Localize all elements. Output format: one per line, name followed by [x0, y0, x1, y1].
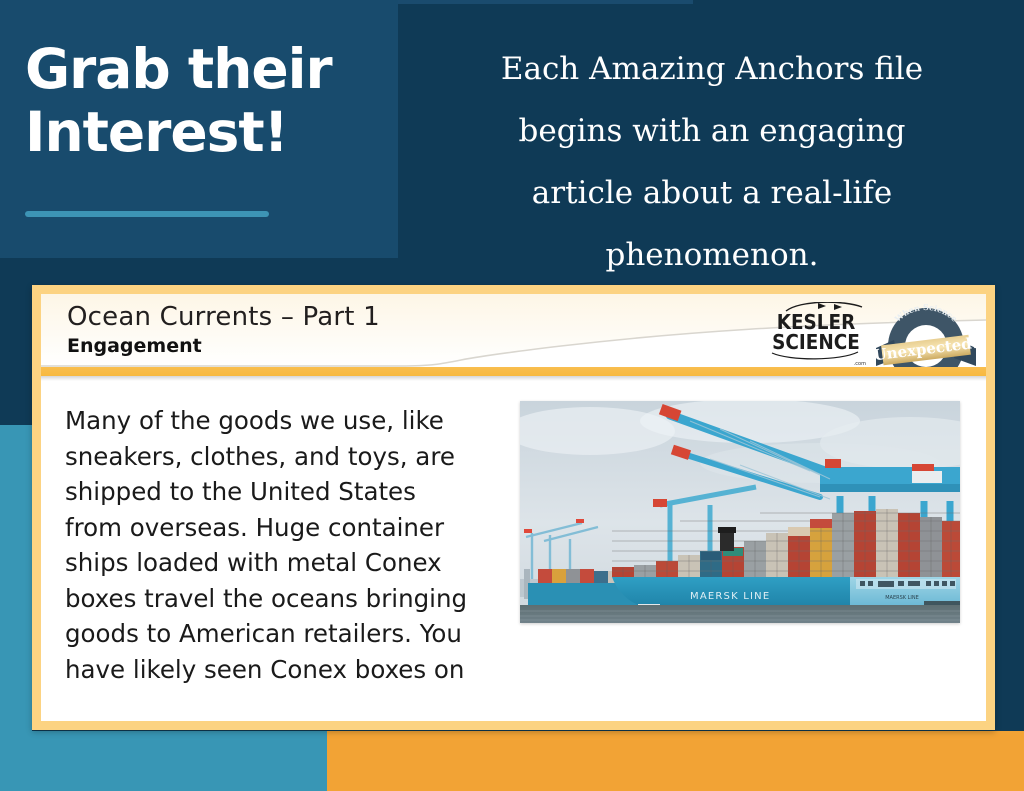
slide-title-line-2: Interest!: [25, 101, 395, 164]
photo-hull-text: MAERSK LINE: [690, 591, 770, 602]
intro-line: article about a real-life: [418, 162, 1006, 224]
container-ship-photo: MAERSK LINE MAERSK LINE: [520, 401, 960, 623]
kesler-science-logo: KESLER SCIENCE .com: [766, 312, 866, 367]
intro-line: begins with an engaging: [418, 100, 1006, 162]
intro-paragraph: Each Amazing Anchors file begins with an…: [418, 38, 1006, 286]
header-gold-rule: [41, 367, 986, 376]
unexpected-seal-badge: When Science Surprises You Unexpected!: [874, 296, 978, 376]
worksheet-subtitle: Engagement: [67, 335, 202, 357]
worksheet-page: Ocean Currents – Part 1 Engagement KESLE…: [41, 294, 986, 721]
intro-line: phenomenon.: [418, 224, 1006, 286]
bottom-teal-bar: [0, 731, 327, 791]
slide-title: Grab their Interest!: [25, 38, 395, 164]
logo-line-2: SCIENCE: [770, 332, 862, 352]
bottom-orange-bar: [327, 731, 1024, 791]
worksheet-paragraph: Many of the goods we use, like sneakers,…: [65, 403, 480, 687]
worksheet-header: Ocean Currents – Part 1 Engagement KESLE…: [41, 294, 986, 376]
photo-illustration: MAERSK LINE MAERSK LINE: [520, 401, 960, 623]
left-teal-band: [0, 425, 32, 731]
title-underline-accent: [25, 211, 269, 217]
intro-line: Each Amazing Anchors file: [418, 38, 1006, 100]
worksheet-body: Many of the goods we use, like sneakers,…: [41, 381, 986, 687]
slide-title-line-1: Grab their: [25, 38, 395, 101]
logo-line-1: KESLER: [770, 312, 862, 332]
photo-ship-nameplate: MAERSK LINE: [885, 595, 919, 601]
worksheet-card: Ocean Currents – Part 1 Engagement KESLE…: [32, 285, 995, 730]
worksheet-title: Ocean Currents – Part 1: [67, 302, 380, 332]
